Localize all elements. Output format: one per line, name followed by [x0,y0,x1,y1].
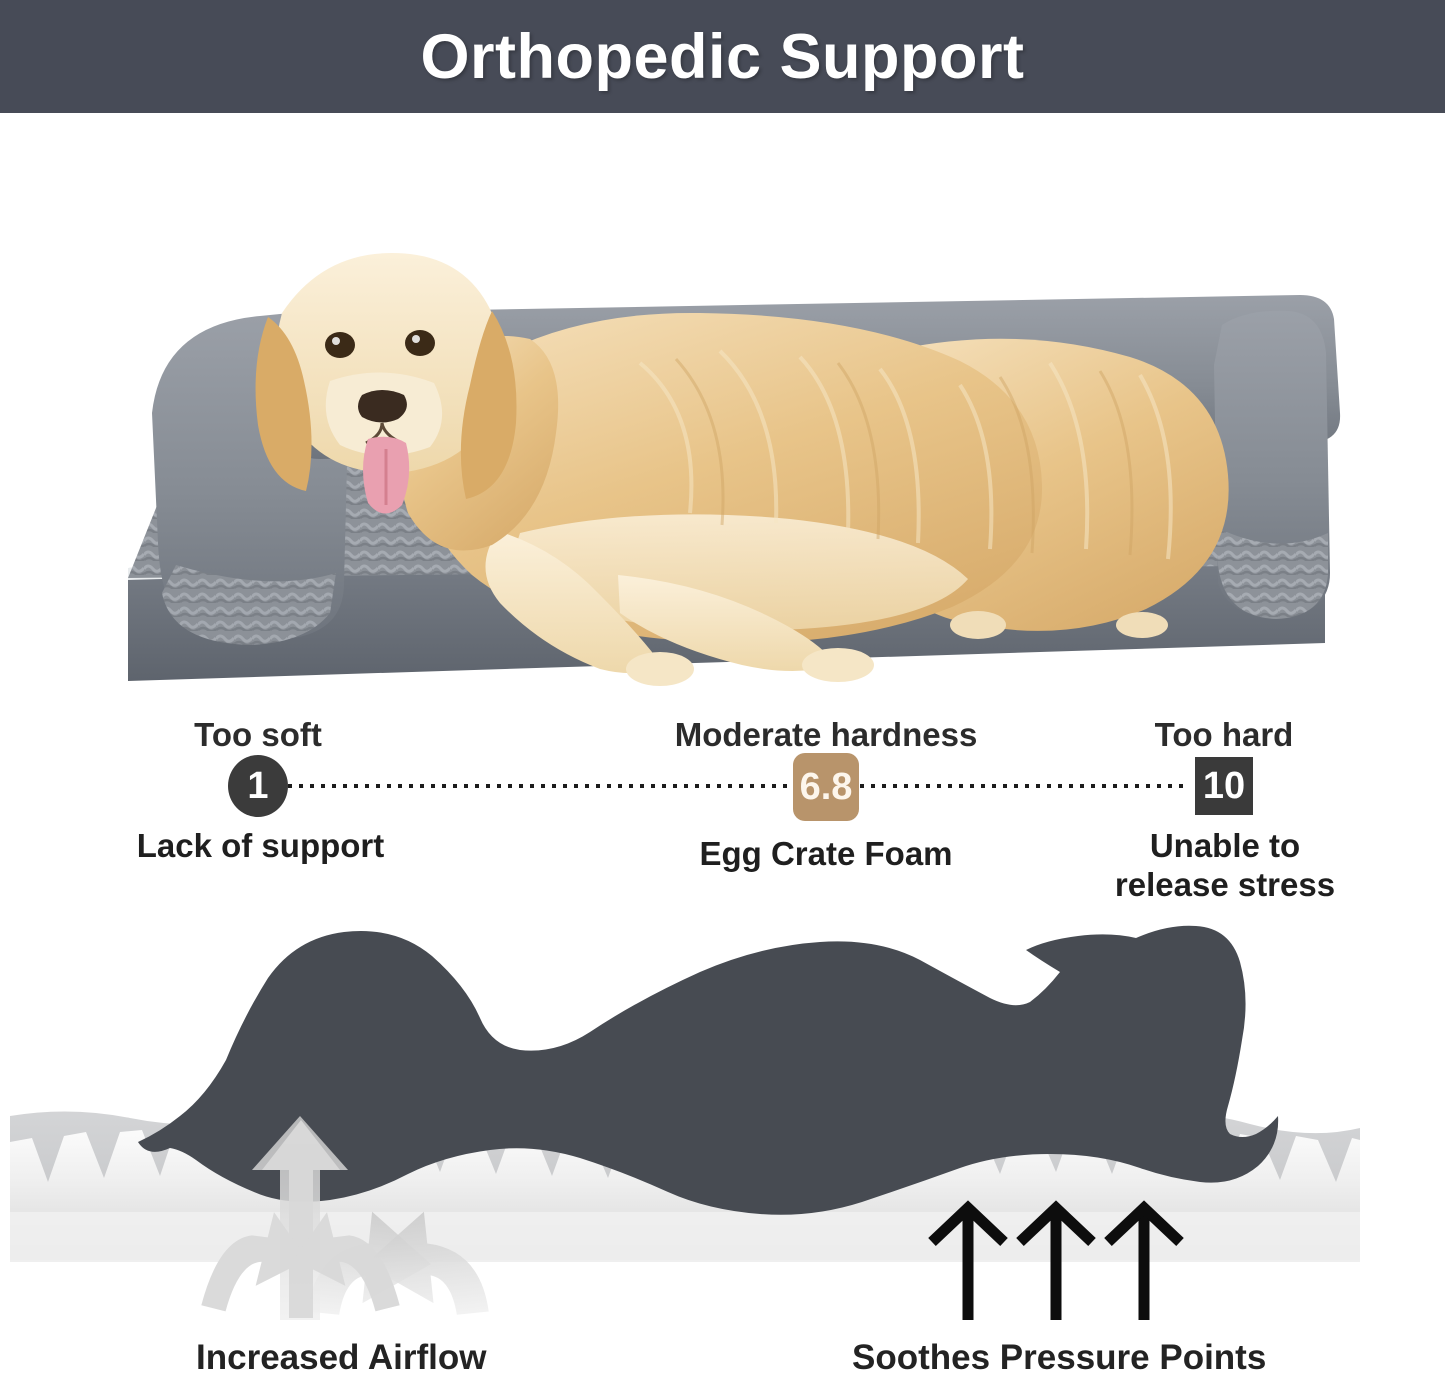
scale-middle-badge: 6.8 [793,753,859,821]
pressure-arrow-2 [1020,1208,1092,1320]
scale-right-bottom-label: Unable to release stress [1110,827,1340,905]
foam-cross-section-diagram [0,920,1445,1320]
pressure-arrows [932,1208,1180,1320]
scale-middle-top-label: Moderate hardness [660,716,992,754]
dog-on-bed-illustration [0,113,1445,693]
scale-middle-bottom-label: Egg Crate Foam [690,835,962,874]
page-title: Orthopedic Support [0,0,1445,113]
pressure-points-label: Soothes Pressure Points [852,1338,1266,1378]
hero-product-photo [0,113,1445,693]
cross-section-svg [0,920,1445,1320]
dog-eye-right [405,330,435,356]
scale-right-badge: 10 [1195,757,1253,815]
pressure-arrow-3 [1108,1208,1180,1320]
scale-right-top-label: Too hard [1128,716,1320,754]
pressure-arrow-1 [932,1208,1004,1320]
scale-left-bottom-label: Lack of support [128,827,393,866]
dog-eye-left [325,332,355,358]
scale-right-bottom-line1: Unable to [1110,827,1340,866]
scale-left-badge: 1 [228,755,288,817]
airflow-label: Increased Airflow [196,1338,486,1378]
dog-nose [358,390,407,423]
scale-right-bottom-line2: release stress [1110,866,1340,905]
scale-left-top-label: Too soft [158,716,358,754]
product-infographic: Orthopedic Support [0,0,1445,1391]
scale-connector-line [288,784,1188,788]
